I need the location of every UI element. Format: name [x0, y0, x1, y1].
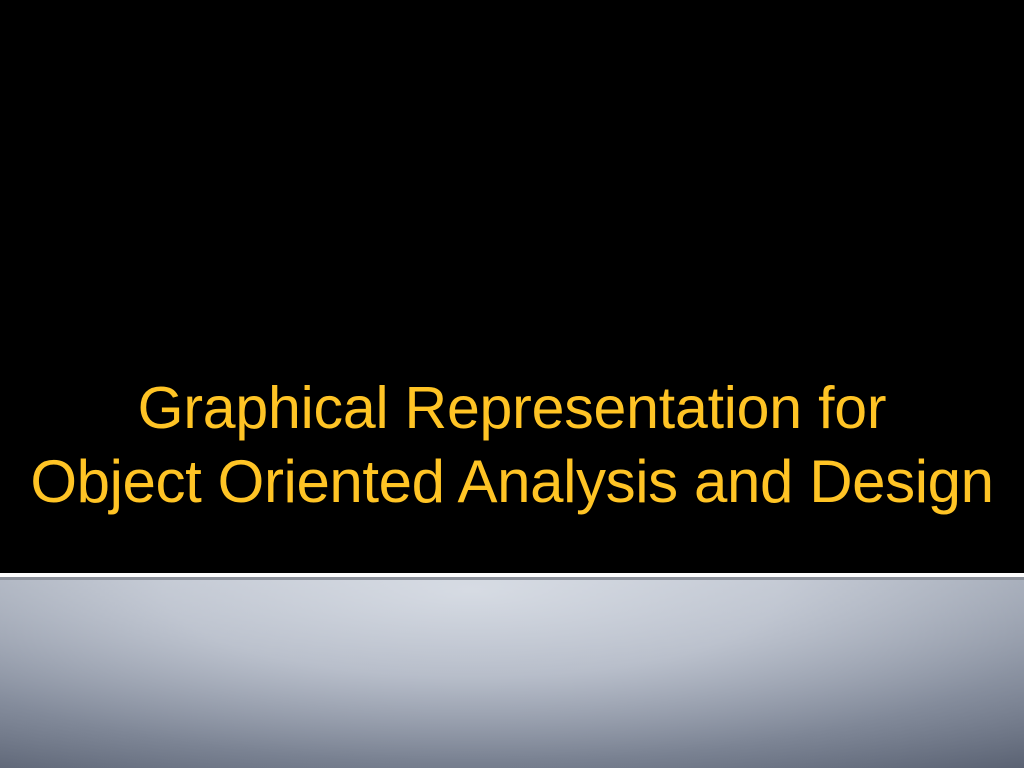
- slide-title: Graphical Representation for Object Orie…: [0, 371, 1024, 519]
- slide-upper-area: Graphical Representation for Object Orie…: [0, 0, 1024, 573]
- slide-title-line-1: Graphical Representation for: [0, 371, 1024, 445]
- title-slide: Graphical Representation for Object Orie…: [0, 0, 1024, 768]
- slide-title-line-2: Object Oriented Analysis and Design: [0, 445, 1024, 519]
- slide-lower-panel: Informática II Prof. Dr. Gustavo Patiño …: [0, 580, 1024, 768]
